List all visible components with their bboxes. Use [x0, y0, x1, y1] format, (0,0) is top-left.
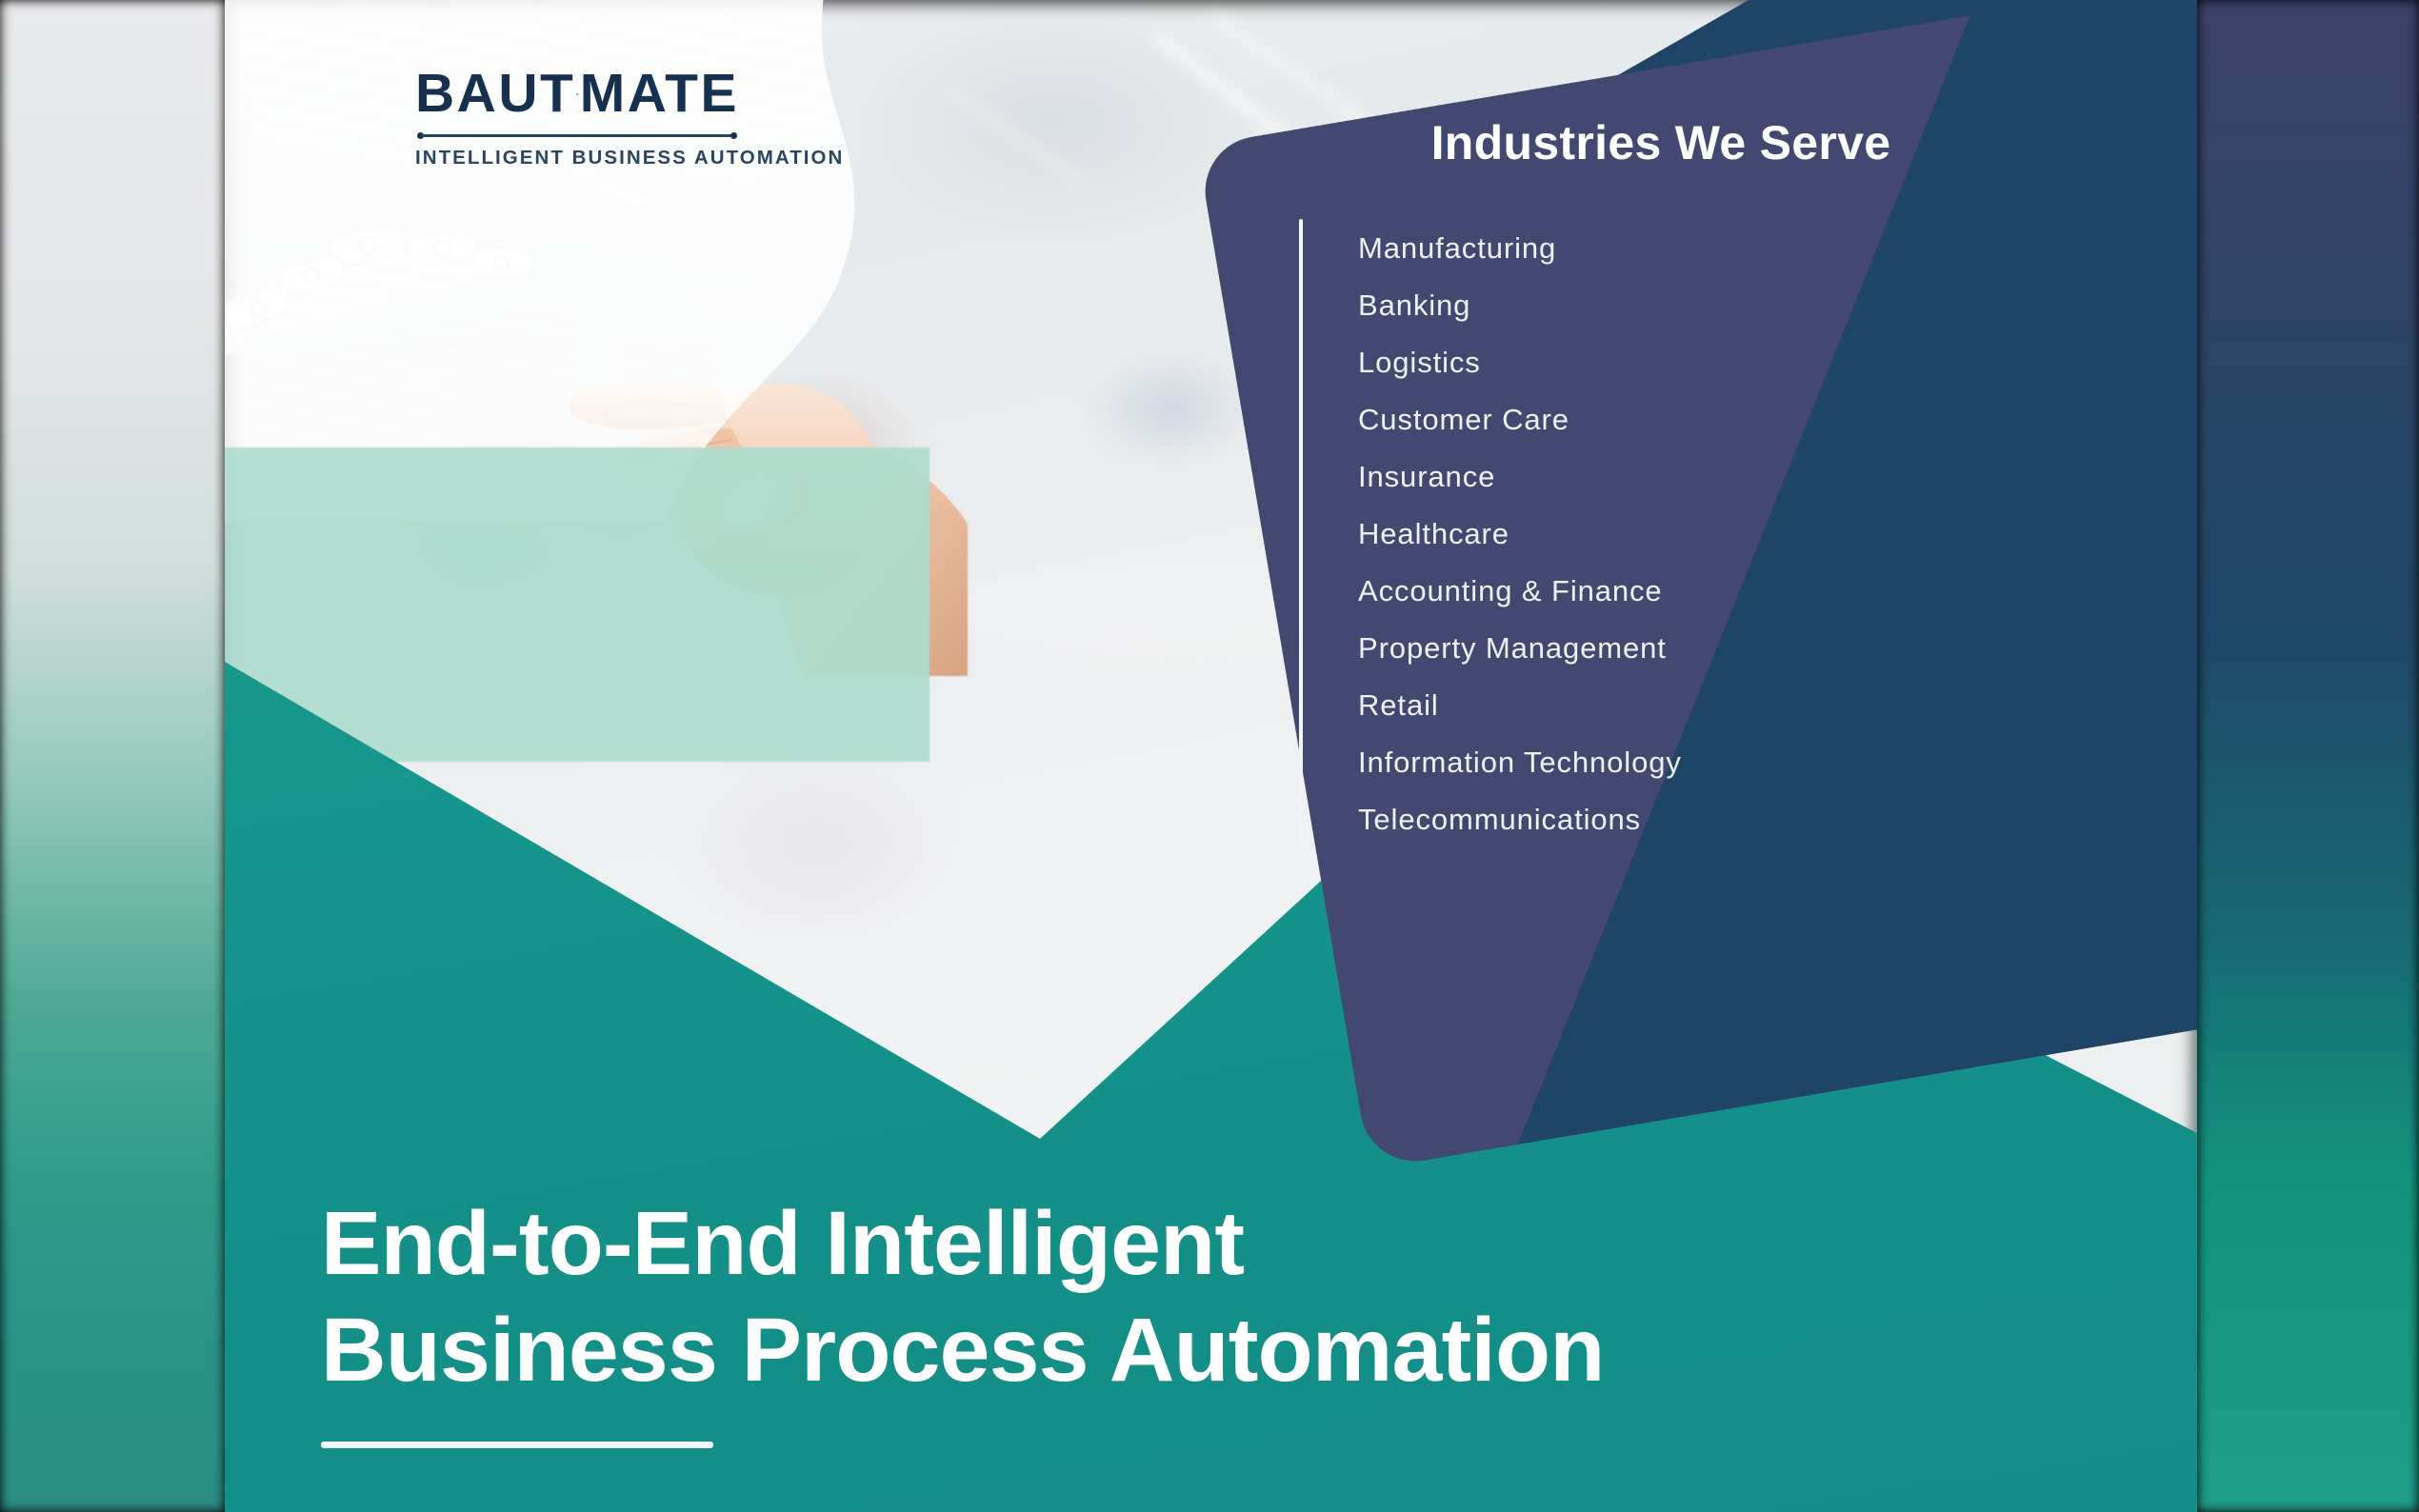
poster-stage: BAUT: [225, 0, 2197, 1512]
logo-wordmark: BAUT: [415, 67, 739, 121]
list-item[interactable]: Property Management: [1358, 619, 2023, 676]
industries-list: Manufacturing Banking Logistics Customer…: [1358, 219, 2023, 847]
logo-rule-line: [422, 134, 732, 137]
industries-list-wrapper: Manufacturing Banking Logistics Customer…: [1299, 219, 2023, 847]
list-item[interactable]: Telecommunications: [1358, 790, 2023, 847]
logo-text-part1: BAUT: [415, 67, 575, 121]
logo-dot-right: [730, 132, 737, 139]
list-item[interactable]: Information Technology: [1358, 733, 2023, 790]
bautomate-logo[interactable]: BAUT: [415, 67, 739, 169]
poster-canvas: BAUT: [0, 0, 2419, 1512]
content-layer: BAUT: [225, 0, 2197, 1512]
list-item[interactable]: Banking: [1358, 276, 2023, 333]
list-item[interactable]: Manufacturing: [1358, 219, 2023, 276]
logo-divider-rule: [417, 132, 737, 138]
headline-line-1: End-to-End Intelligent: [321, 1190, 1940, 1297]
industries-section: Industries We Serve Manufacturing Bankin…: [1299, 119, 2023, 847]
right-letterbox-band: [2197, 0, 2419, 1512]
list-item[interactable]: Accounting & Finance: [1358, 562, 2023, 619]
headline-line-2: Business Process Automation: [321, 1297, 1940, 1403]
left-letterbox-band: [0, 0, 225, 1512]
list-item[interactable]: Customer Care: [1358, 390, 2023, 448]
logo-text-part2: MATE: [580, 67, 739, 121]
headline-underline-bar: [321, 1442, 713, 1448]
industries-vertical-rule: [1299, 219, 1303, 847]
list-item[interactable]: Insurance: [1358, 448, 2023, 505]
list-item[interactable]: Healthcare: [1358, 505, 2023, 562]
list-item[interactable]: Retail: [1358, 676, 2023, 733]
gear-icon: [576, 71, 578, 117]
logo-tagline: INTELLIGENT BUSINESS AUTOMATION: [415, 147, 739, 169]
headline-block: End-to-End Intelligent Business Process …: [321, 1190, 1940, 1448]
list-item[interactable]: Logistics: [1358, 333, 2023, 390]
industries-title: Industries We Serve: [1299, 119, 2023, 167]
